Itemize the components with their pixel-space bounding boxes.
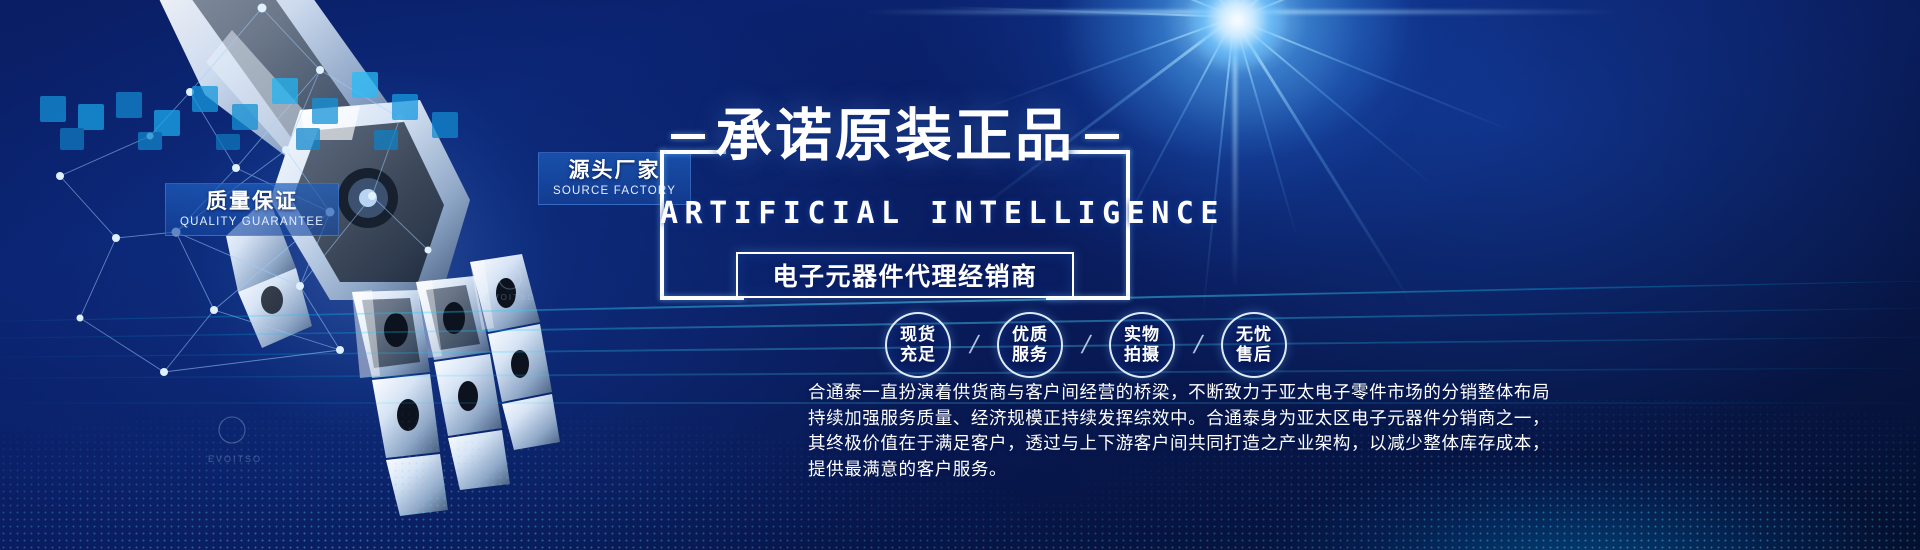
feature-aftersales-line2: 售后 xyxy=(1236,345,1272,365)
robot-hand-svg: EVOITSO EVOITSO xyxy=(0,0,690,550)
feature-separator-3: / xyxy=(1171,331,1224,360)
feature-service-line2: 服务 xyxy=(1012,345,1048,365)
headline-subtitle-en: ARTIFICIAL INTELLIGENCE xyxy=(660,196,1130,231)
badge-quality-cn: 质量保证 xyxy=(180,190,324,214)
badge-quality-en: QUALITY GUARANTEE xyxy=(180,216,324,228)
badge-source-en: SOURCE FACTORY xyxy=(553,185,676,197)
feature-photo-line2: 拍摄 xyxy=(1124,345,1160,365)
feature-circle-list: 现货 充足 / 优质 服务 / 实物 拍摄 / 无忧 售后 xyxy=(885,312,1287,378)
paragraph-line-1: 合通泰一直扮演着供货商与客户间经营的桥梁，不断致力于亚太电子零件市场的分销整体布… xyxy=(808,380,1488,406)
page-title: 承诺原装正品 xyxy=(715,108,1075,165)
boxed-subtitle: 电子元器件代理经销商 xyxy=(736,252,1074,298)
feature-circle-real-photo[interactable]: 实物 拍摄 xyxy=(1109,312,1175,378)
feature-aftersales-line1: 无忧 xyxy=(1236,325,1272,345)
feature-stock-line1: 现货 xyxy=(900,325,936,345)
badge-quality-guarantee: 质量保证 QUALITY GUARANTEE xyxy=(165,183,339,236)
description-paragraph: 合通泰一直扮演着供货商与客户间经营的桥梁，不断致力于亚太电子零件市场的分销整体布… xyxy=(808,380,1488,482)
hand-glow xyxy=(120,40,640,510)
feature-service-line1: 优质 xyxy=(1012,325,1048,345)
headline-dash-right xyxy=(1085,134,1119,139)
paragraph-line-2: 持续加强服务质量、经济规模正持续发挥综效中。合通泰身为亚太区电子元器件分销商之一… xyxy=(808,406,1488,432)
headline-row: 承诺原装正品 xyxy=(618,108,1172,165)
feature-stock-line2: 充足 xyxy=(900,345,936,365)
paragraph-line-4: 提供最满意的客户服务。 xyxy=(808,457,1488,483)
feature-circle-stock[interactable]: 现货 充足 xyxy=(885,312,951,378)
headline-dash-left xyxy=(671,134,705,139)
hero-banner: EVOITSO EVOITSO xyxy=(0,0,1920,550)
robotic-hand-illustration: EVOITSO EVOITSO xyxy=(0,0,690,550)
paragraph-line-3: 其终极价值在于满足客户，透过与上下游客户间共同打造之产业架构，以减少整体库存成本… xyxy=(808,431,1488,457)
feature-circle-service[interactable]: 优质 服务 xyxy=(997,312,1063,378)
feature-circle-after-sales[interactable]: 无忧 售后 xyxy=(1221,312,1287,378)
feature-photo-line1: 实物 xyxy=(1124,325,1160,345)
boxed-subtitle-text: 电子元器件代理经销商 xyxy=(772,257,1037,293)
feature-separator-1: / xyxy=(947,331,1000,360)
headline-block: 承诺原装正品 ARTIFICIAL INTELLIGENCE 电子元器件代理经销… xyxy=(660,108,1130,300)
cube-grid xyxy=(0,0,560,150)
svg-text:EVOITSO: EVOITSO xyxy=(486,293,536,302)
feature-separator-2: / xyxy=(1059,331,1112,360)
svg-text:EVOITSO: EVOITSO xyxy=(208,454,262,464)
